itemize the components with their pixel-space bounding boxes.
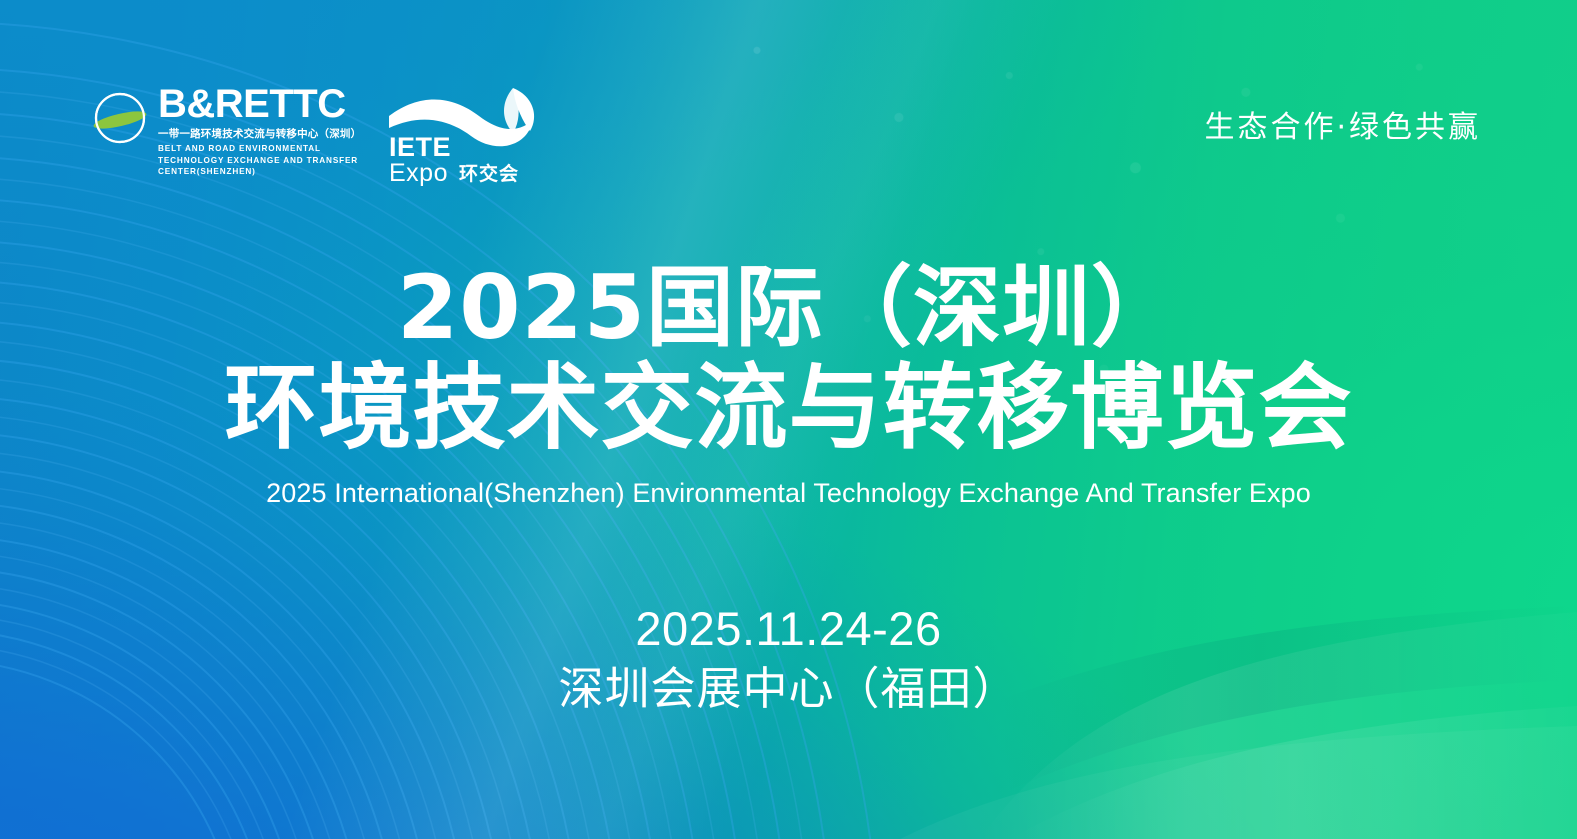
brettc-wordmark: B&RETTC — [158, 84, 363, 124]
brettc-english-name: BELT AND ROAD ENVIRONMENTAL TECHNOLOGY E… — [158, 143, 363, 178]
brettc-text-block: B&RETTC 一带一路环境技术交流与转移中心（深圳） BELT AND ROA… — [158, 84, 363, 178]
logo-row: B&RETTC 一带一路环境技术交流与转移中心（深圳） BELT AND ROA… — [92, 84, 547, 186]
svg-text:IETE: IETE — [389, 132, 451, 162]
tagline: 生态合作·绿色共赢 — [1204, 102, 1481, 146]
title-line-1: 2025国际（深圳） — [0, 262, 1577, 354]
brettc-logo[interactable]: B&RETTC 一带一路环境技术交流与转移中心（深圳） BELT AND ROA… — [92, 84, 363, 178]
headline-block: 2025国际（深圳） 环境技术交流与转移博览会 2025 Internation… — [0, 262, 1577, 509]
event-date: 2025.11.24-26 — [0, 602, 1577, 656]
event-venue: 深圳会展中心（福田） — [0, 662, 1577, 716]
expo-banner: B&RETTC 一带一路环境技术交流与转移中心（深圳） BELT AND ROA… — [0, 0, 1577, 839]
subtitle-english: 2025 International(Shenzhen) Environment… — [0, 478, 1577, 509]
brettc-globe-mark — [92, 90, 148, 146]
svg-text:环交会: 环交会 — [459, 162, 519, 185]
svg-text:Expo: Expo — [389, 159, 448, 186]
brettc-chinese-name: 一带一路环境技术交流与转移中心（深圳） — [158, 128, 363, 141]
event-info-block: 2025.11.24-26 深圳会展中心（福田） — [0, 602, 1577, 716]
iete-expo-logo[interactable]: IETE Expo 环交会 — [387, 86, 547, 186]
title-line-2: 环境技术交流与转移博览会 — [0, 360, 1577, 457]
